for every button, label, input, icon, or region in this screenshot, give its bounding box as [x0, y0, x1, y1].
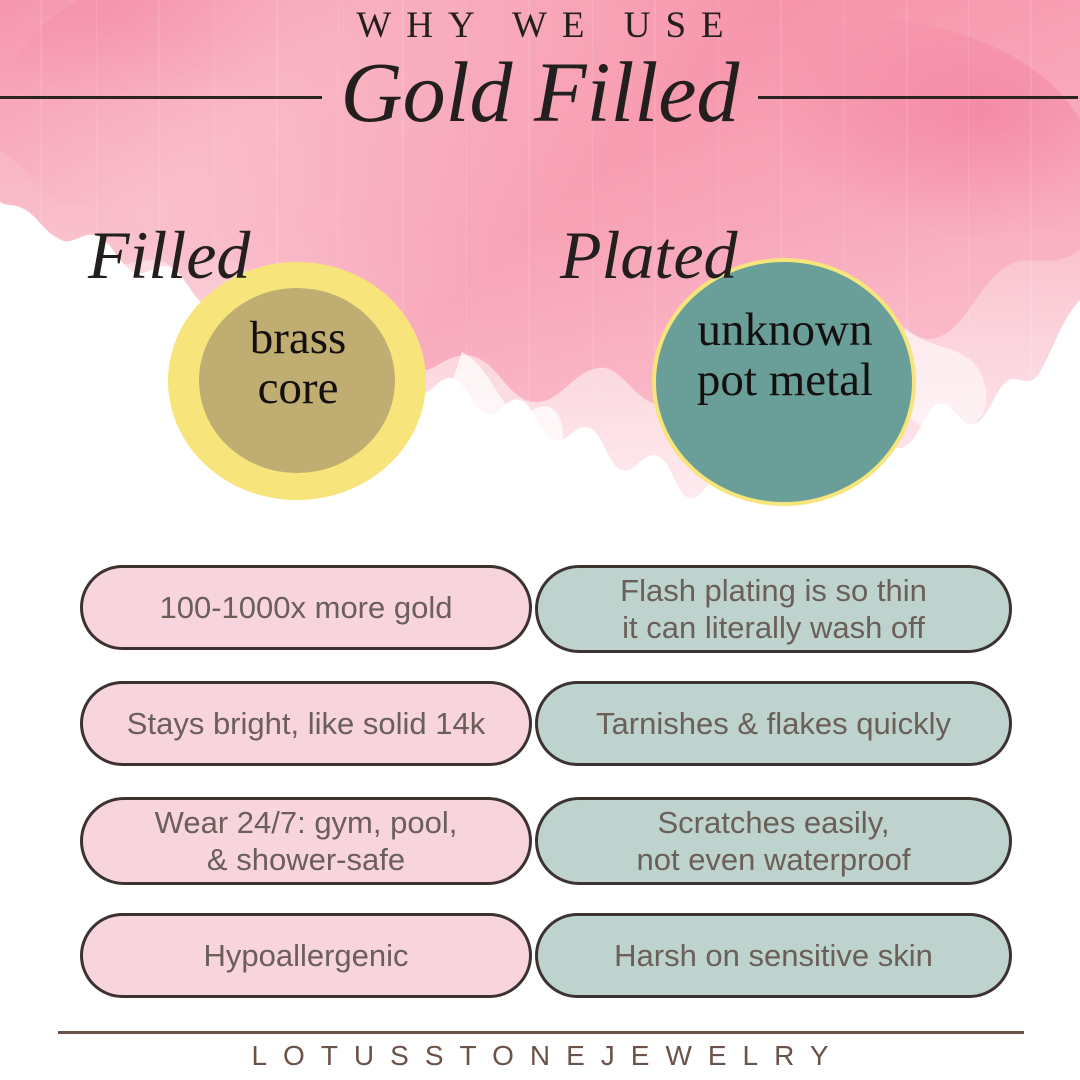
column-label-plated: Plated [560, 216, 738, 295]
column-label-filled: Filled [88, 216, 250, 295]
comparison-grid: 100-1000x more gold Flash plating is so … [0, 565, 1080, 1029]
header-kicker: WHY WE USE [0, 4, 1080, 47]
comparison-row: Hypoallergenic Harsh on sensitive skin [0, 913, 1080, 1029]
filled-core-label: brass core [180, 313, 416, 414]
pill-filled-benefit[interactable]: Wear 24/7: gym, pool, & shower-safe [80, 797, 532, 885]
infographic-canvas: WHY WE USE Gold Filled Filled brass core… [0, 0, 1080, 1080]
pill-filled-benefit[interactable]: Stays bright, like solid 14k [80, 681, 532, 766]
pill-plated-drawback[interactable]: Tarnishes & flakes quickly [535, 681, 1012, 766]
plated-core-label: unknown pot metal [640, 305, 930, 406]
header-rule-right [758, 96, 1078, 99]
header: WHY WE USE Gold Filled [0, 0, 1080, 150]
comparison-row: Wear 24/7: gym, pool, & shower-safe Scra… [0, 797, 1080, 913]
watercolor-light-center [451, 352, 563, 479]
comparison-row: 100-1000x more gold Flash plating is so … [0, 565, 1080, 681]
pill-plated-drawback[interactable]: Flash plating is so thin it can literall… [535, 565, 1012, 653]
pill-plated-drawback[interactable]: Harsh on sensitive skin [535, 913, 1012, 998]
pill-filled-benefit[interactable]: 100-1000x more gold [80, 565, 532, 650]
page-title: Gold Filled [0, 46, 1080, 138]
comparison-row: Stays bright, like solid 14k Tarnishes &… [0, 681, 1080, 797]
footer-divider [58, 1031, 1024, 1034]
pill-filled-benefit[interactable]: Hypoallergenic [80, 913, 532, 998]
pill-plated-drawback[interactable]: Scratches easily, not even waterproof [535, 797, 1012, 885]
header-rule-left [0, 96, 322, 99]
brand-wordmark: LOTUSSTONEJEWELRY [0, 1040, 1080, 1072]
